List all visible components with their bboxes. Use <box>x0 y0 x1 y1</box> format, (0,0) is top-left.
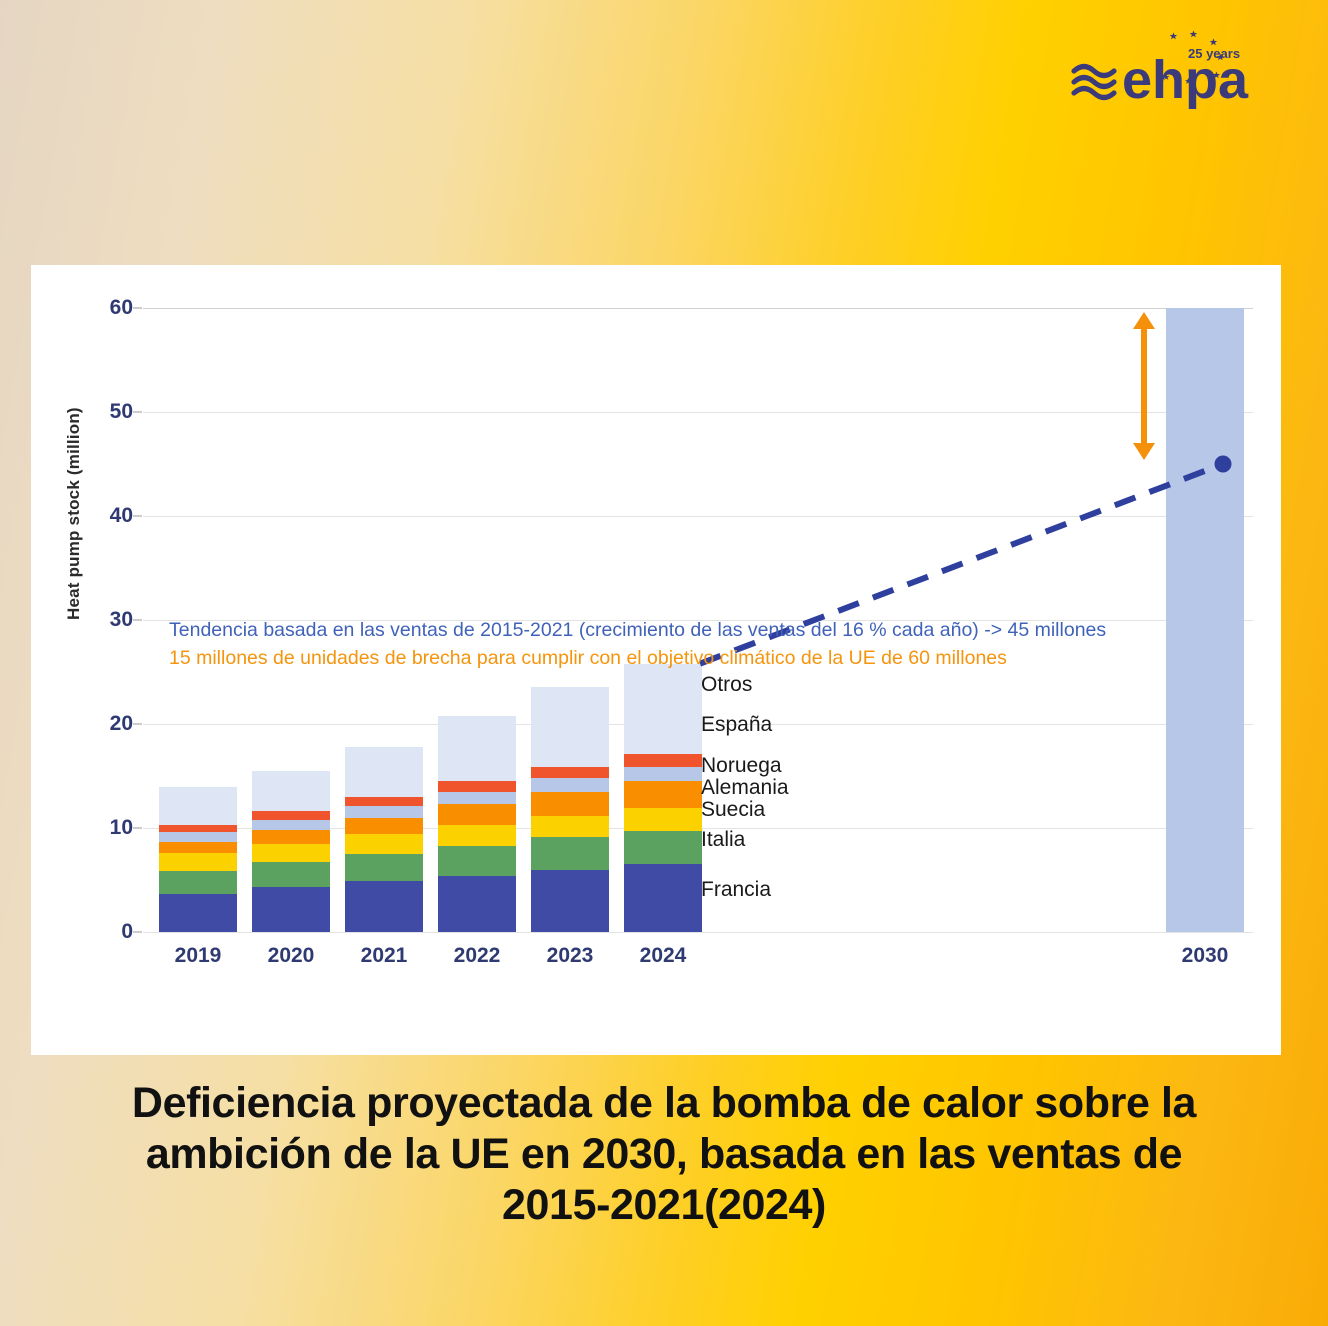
bar-segment-2022-otros[interactable] <box>438 716 516 782</box>
bar-segment-2023-suecia[interactable] <box>531 816 609 838</box>
x-tick-label-2020: 2020 <box>268 944 315 968</box>
bar-2023[interactable] <box>531 687 609 932</box>
ehpa-logo: ehpa 25 years <box>1070 28 1280 113</box>
chart-card: Heat pump stock (million) 0102030405060 … <box>31 265 1281 1055</box>
y-tick-label-30: 30 <box>110 608 133 632</box>
bar-segment-2022-españa[interactable] <box>438 781 516 791</box>
gridline-50 <box>143 412 1253 413</box>
bar-segment-2023-alemania[interactable] <box>531 792 609 816</box>
bar-segment-2024-francia[interactable] <box>624 864 702 932</box>
bar-2020[interactable] <box>252 771 330 932</box>
bar-segment-2021-suecia[interactable] <box>345 834 423 854</box>
bar-segment-2020-españa[interactable] <box>252 811 330 819</box>
title-line-2: ambición de la UE en 2030, basada en las… <box>95 1129 1233 1180</box>
bar-segment-2023-noruega[interactable] <box>531 778 609 792</box>
bar-segment-2019-italia[interactable] <box>159 871 237 894</box>
bar-segment-2020-noruega[interactable] <box>252 820 330 830</box>
gridline-0 <box>143 932 1253 933</box>
series-label-noruega: Noruega <box>701 754 782 778</box>
bar-segment-2019-noruega[interactable] <box>159 832 237 841</box>
gap-arrow-head-top <box>1133 312 1155 329</box>
chart-annotation: Tendencia basada en las ventas de 2015-2… <box>169 617 1106 672</box>
x-tick-label-2023: 2023 <box>547 944 594 968</box>
bar-segment-2024-italia[interactable] <box>624 831 702 864</box>
bar-segment-2021-italia[interactable] <box>345 854 423 881</box>
x-tick-label-2021: 2021 <box>361 944 408 968</box>
bar-segment-2019-suecia[interactable] <box>159 853 237 871</box>
bar-segment-2022-francia[interactable] <box>438 876 516 932</box>
bar-segment-2022-alemania[interactable] <box>438 804 516 825</box>
series-label-alemania: Alemania <box>701 776 789 800</box>
y-tick-label-50: 50 <box>110 400 133 424</box>
y-tick-mark-10 <box>133 828 142 829</box>
series-label-suecia: Suecia <box>701 798 765 822</box>
bar-segment-2023-francia[interactable] <box>531 870 609 932</box>
annotation-gap-line: 15 millones de unidades de brecha para c… <box>169 645 1106 673</box>
bar-segment-2023-españa[interactable] <box>531 767 609 778</box>
x-tick-label-2022: 2022 <box>454 944 501 968</box>
bar-segment-2024-españa[interactable] <box>624 754 702 766</box>
bar-segment-2020-francia[interactable] <box>252 887 330 932</box>
y-tick-mark-60 <box>133 308 142 309</box>
y-tick-mark-50 <box>133 412 142 413</box>
y-tick-mark-0 <box>133 932 142 933</box>
bar-segment-2019-otros[interactable] <box>159 787 237 824</box>
bar-2019[interactable] <box>159 786 237 932</box>
y-tick-mark-20 <box>133 724 142 725</box>
bar-segment-2019-alemania[interactable] <box>159 842 237 853</box>
y-tick-mark-40 <box>133 516 142 517</box>
bar-2022[interactable] <box>438 716 516 932</box>
y-tick-mark-30 <box>133 620 142 621</box>
bar-segment-2024-otros[interactable] <box>624 664 702 754</box>
y-axis-title: Heat pump stock (million) <box>64 407 84 620</box>
bar-2024[interactable] <box>624 664 702 932</box>
bar-segment-2024-noruega[interactable] <box>624 767 702 782</box>
x-tick-label-2019: 2019 <box>175 944 222 968</box>
bar-segment-2022-noruega[interactable] <box>438 792 516 804</box>
bar-segment-2021-noruega[interactable] <box>345 806 423 817</box>
bar-segment-2020-alemania[interactable] <box>252 830 330 844</box>
x-tick-label-2024: 2024 <box>640 944 687 968</box>
bar-segment-2023-otros[interactable] <box>531 687 609 767</box>
infographic-title: Deficiencia proyectada de la bomba de ca… <box>0 1078 1328 1231</box>
bar-segment-2019-francia[interactable] <box>159 894 237 932</box>
bar-segment-2021-españa[interactable] <box>345 797 423 806</box>
y-tick-label-60: 60 <box>110 296 133 320</box>
y-tick-label-20: 20 <box>110 712 133 736</box>
x-tick-label-2030: 2030 <box>1182 944 1229 968</box>
series-label-otros: Otros <box>701 673 752 697</box>
bar-segment-2020-italia[interactable] <box>252 862 330 887</box>
series-label-italia: Italia <box>701 828 745 852</box>
gridline-60 <box>143 308 1253 309</box>
title-line-1: Deficiencia proyectada de la bomba de ca… <box>95 1078 1233 1129</box>
bar-segment-2024-alemania[interactable] <box>624 781 702 808</box>
bar-2021[interactable] <box>345 747 423 932</box>
bar-segment-2024-suecia[interactable] <box>624 808 702 831</box>
bar-segment-2020-otros[interactable] <box>252 771 330 812</box>
bar-segment-2020-suecia[interactable] <box>252 844 330 863</box>
bar-segment-2022-suecia[interactable] <box>438 825 516 846</box>
y-tick-label-40: 40 <box>110 504 133 528</box>
annotation-trend-line: Tendencia basada en las ventas de 2015-2… <box>169 617 1106 645</box>
title-line-3: 2015-2021(2024) <box>95 1180 1233 1231</box>
bar-segment-2022-italia[interactable] <box>438 846 516 876</box>
y-tick-label-10: 10 <box>110 816 133 840</box>
logo-badge-text: 25 years <box>1188 46 1240 61</box>
bar-segment-2019-españa[interactable] <box>159 825 237 832</box>
bar-segment-2021-otros[interactable] <box>345 747 423 797</box>
series-label-españa: España <box>701 713 772 737</box>
gap-arrow-head-bottom <box>1133 443 1155 460</box>
bar-segment-2023-italia[interactable] <box>531 837 609 869</box>
bar-2030[interactable] <box>1166 308 1244 932</box>
series-label-francia: Francia <box>701 878 771 902</box>
gridline-40 <box>143 516 1253 517</box>
bar-segment-2021-francia[interactable] <box>345 881 423 932</box>
y-tick-label-0: 0 <box>121 920 133 944</box>
bar-segment-2021-alemania[interactable] <box>345 818 423 835</box>
